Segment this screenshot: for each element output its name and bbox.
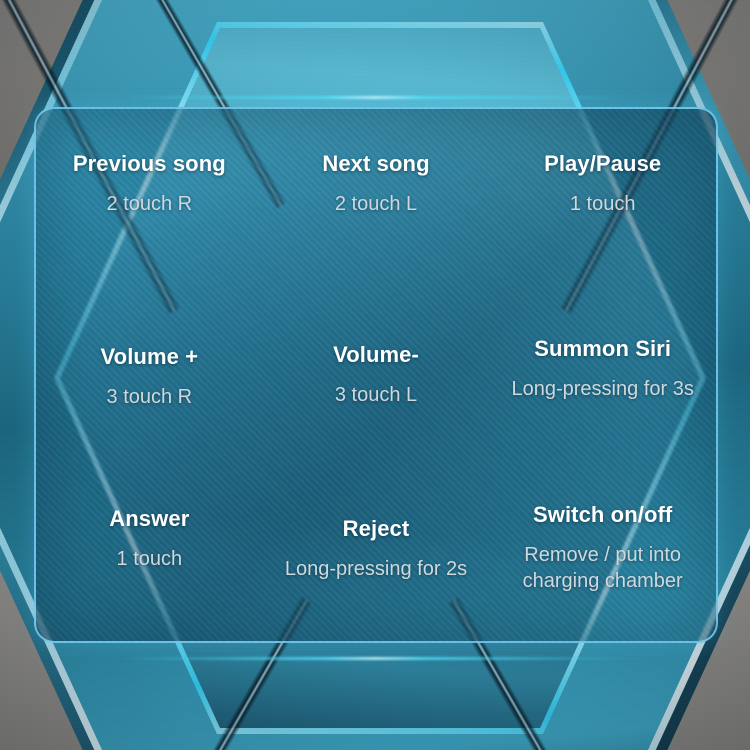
control-cell-summon-siri: Summon Siri Long-pressing for 3s <box>489 286 716 463</box>
control-gesture-play-pause: 1 touch <box>570 191 636 217</box>
control-cell-answer: Answer 1 touch <box>36 464 263 641</box>
control-cell-next-song: Next song 2 touch L <box>263 109 490 286</box>
control-gesture-previous-song: 2 touch R <box>107 191 193 217</box>
control-cell-previous-song: Previous song 2 touch R <box>36 109 263 286</box>
control-title-next-song: Next song <box>322 151 429 177</box>
control-title-play-pause: Play/Pause <box>544 151 661 177</box>
control-title-switch-on-off: Switch on/off <box>533 502 672 528</box>
control-cell-reject: Reject Long-pressing for 2s <box>263 464 490 641</box>
product-feature-image: Previous song 2 touch R Next song 2 touc… <box>0 0 750 750</box>
control-grid: Previous song 2 touch R Next song 2 touc… <box>36 109 716 641</box>
control-title-volume-up: Volume + <box>101 344 199 370</box>
control-cell-volume-down: Volume- 3 touch L <box>263 286 490 463</box>
control-gesture-reject: Long-pressing for 2s <box>285 556 467 582</box>
control-title-summon-siri: Summon Siri <box>534 336 671 362</box>
edge-glow-bottom <box>120 657 630 660</box>
control-cell-switch-on-off: Switch on/off Remove / put into charging… <box>489 464 716 641</box>
control-cell-play-pause: Play/Pause 1 touch <box>489 109 716 286</box>
control-title-volume-down: Volume- <box>333 342 419 368</box>
control-title-reject: Reject <box>343 516 410 542</box>
touch-control-panel: Previous song 2 touch R Next song 2 touc… <box>34 107 718 643</box>
control-cell-volume-up: Volume + 3 touch R <box>36 286 263 463</box>
control-title-answer: Answer <box>109 506 189 532</box>
control-gesture-volume-up: 3 touch R <box>107 384 193 410</box>
control-gesture-answer: 1 touch <box>117 546 183 572</box>
control-gesture-volume-down: 3 touch L <box>335 382 417 408</box>
control-gesture-switch-on-off: Remove / put into charging chamber <box>489 542 716 595</box>
control-gesture-next-song: 2 touch L <box>335 191 417 217</box>
control-title-previous-song: Previous song <box>73 151 226 177</box>
control-gesture-summon-siri: Long-pressing for 3s <box>512 376 694 402</box>
edge-glow-top <box>120 96 630 99</box>
